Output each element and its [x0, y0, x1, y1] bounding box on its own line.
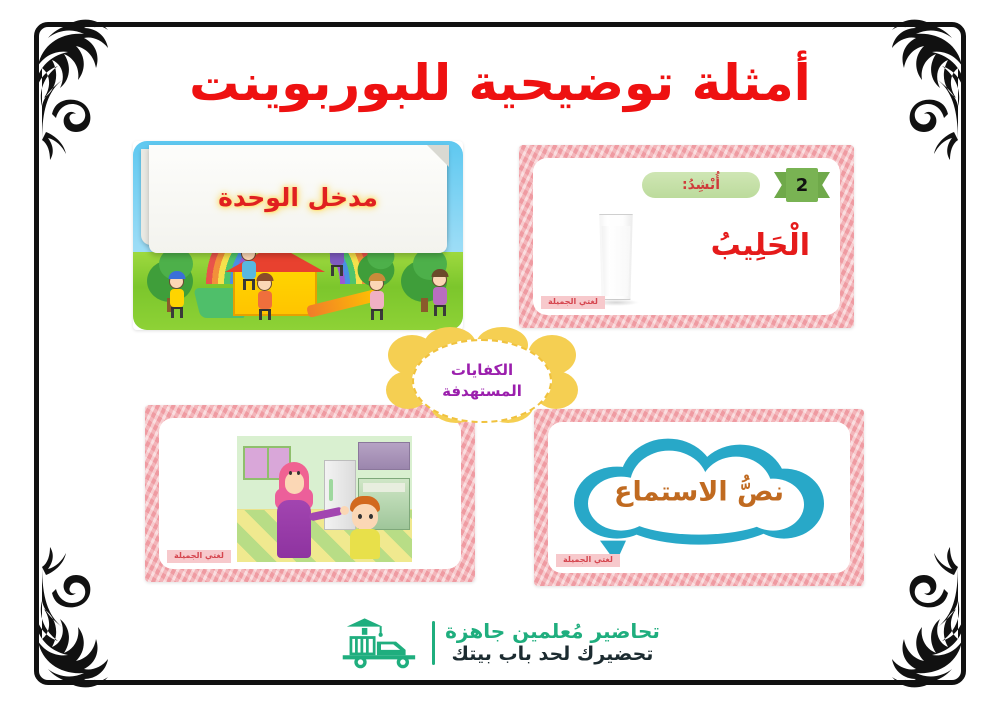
glass-of-milk-image — [597, 214, 635, 300]
child-figure — [432, 272, 447, 314]
competencies-line-1: الكفايات — [451, 361, 513, 380]
activity-pill-anshidu: أُنْشِدُ: — [642, 172, 760, 198]
paper-curl-corner-icon — [427, 145, 449, 167]
boy-shirt — [350, 529, 380, 559]
mother-eye-right — [297, 471, 300, 475]
slide-inner-kitchen-scene: لغتي الجميلة — [159, 418, 461, 569]
mother-face — [285, 472, 304, 494]
boy-eye-right — [369, 514, 373, 519]
slide-tag-label: لغتي الجميلة — [556, 554, 620, 567]
child-figure — [369, 276, 384, 318]
mother-dress — [277, 500, 311, 558]
slide-card-kitchen-scene[interactable]: لغتي الجميلة — [145, 405, 475, 582]
brand-tagline: تحضيرك لحد باب بيتك — [445, 643, 660, 666]
kitchen-illustration — [237, 436, 412, 562]
brand-divider — [432, 621, 435, 665]
competencies-oval: الكفايات المستهدفة — [412, 339, 552, 423]
speech-cloud-shape: نصُّ الاستماع — [574, 438, 824, 548]
brand-name: تحاضير مُعلمين جاهزة — [445, 620, 660, 643]
kitchen-cabinet — [358, 442, 410, 470]
slide-inner-unit-entry: مدخل الوحدة — [133, 141, 463, 330]
child-figure — [257, 276, 272, 318]
mother-eye-left — [289, 471, 292, 475]
vocabulary-word-milk: الْحَلِيبُ — [711, 228, 810, 263]
child-figure — [169, 274, 184, 316]
lesson-number-ribbon: 2 — [774, 168, 830, 202]
slide-card-listening-text[interactable]: نصُّ الاستماع لغتي الجميلة — [534, 409, 864, 586]
slide-inner-listening-text: نصُّ الاستماع لغتي الجميلة — [548, 422, 850, 573]
slide-heading-unit-entry: مدخل الوحدة — [133, 183, 463, 212]
slide-card-anshidu-milk[interactable]: 2 أُنْشِدُ: الْحَلِيبُ لغتي الجميلة — [519, 145, 854, 328]
boy-face — [352, 504, 378, 530]
lesson-number-value: 2 — [786, 168, 818, 202]
slide-card-unit-entry[interactable]: مدخل الوحدة — [133, 141, 463, 330]
boy-eye-left — [358, 514, 362, 519]
competencies-line-2: المستهدفة — [442, 382, 522, 401]
mother-figure — [267, 462, 321, 558]
footer-brand: تحاضير مُعلمين جاهزة تحضيرك لحد باب بيتك — [0, 615, 1000, 671]
slide-tag-label: لغتي الجميلة — [541, 296, 605, 309]
brand-texts: تحاضير مُعلمين جاهزة تحضيرك لحد باب بيتك — [445, 620, 660, 666]
boy-figure — [344, 496, 386, 558]
poster-page: أمثلة توضيحية للبوربوينت — [0, 0, 1000, 707]
slide-tag-label: لغتي الجميلة — [167, 550, 231, 563]
page-title: أمثلة توضيحية للبوربوينت — [0, 54, 1000, 112]
center-competencies-badge: الكفايات المستهدفة — [384, 327, 580, 425]
delivery-truck-icon — [340, 615, 422, 671]
milk-liquid — [600, 226, 632, 296]
listening-text-label: نصُّ الاستماع — [574, 476, 824, 507]
slide-inner-anshidu-milk: 2 أُنْشِدُ: الْحَلِيبُ لغتي الجميلة — [533, 158, 840, 315]
